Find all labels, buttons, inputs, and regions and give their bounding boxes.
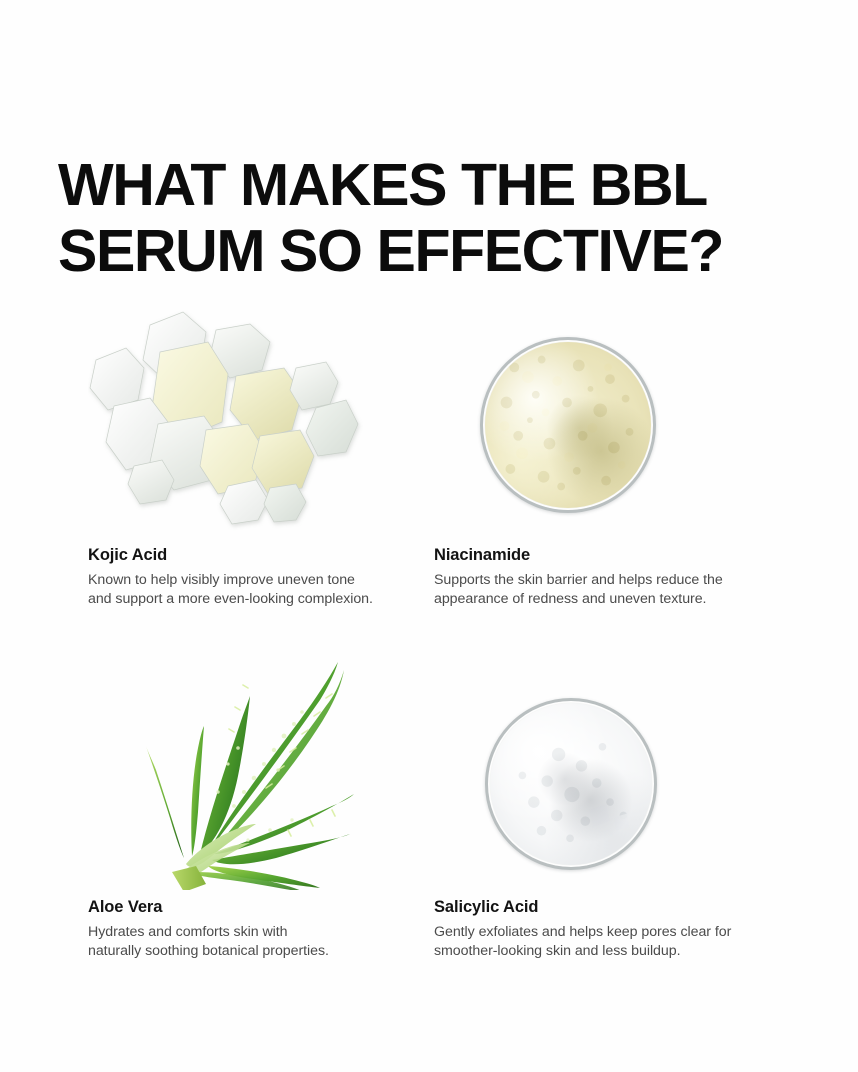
- ingredient-infographic-page: WHAT MAKES THE BBL SERUM SO EFFECTIVE?: [0, 0, 858, 1072]
- white-powder-fill: [490, 703, 652, 865]
- ingredient-description: Gently exfoliates and helps keep pores c…: [434, 923, 764, 960]
- ingredient-title: Aloe Vera: [88, 897, 428, 917]
- ingredient-card-kojic-acid: Kojic Acid Known to help visibly improve…: [88, 290, 488, 640]
- salicylic-acid-caption: Salicylic Acid Gently exfoliates and hel…: [434, 897, 774, 960]
- cream-powder-fill: [485, 342, 651, 508]
- ingredient-card-niacinamide: Niacinamide Supports the skin barrier an…: [434, 290, 834, 640]
- ingredient-description: Hydrates and comforts skin with naturall…: [88, 923, 418, 960]
- powder-texture: [490, 703, 652, 865]
- description-line-1: Gently exfoliates and helps keep pores c…: [434, 923, 764, 942]
- aloe-vera-leaves-icon: [88, 640, 418, 890]
- kojic-acid-media: [88, 290, 418, 540]
- description-line-2: appearance of redness and uneven texture…: [434, 590, 764, 609]
- niacinamide-caption: Niacinamide Supports the skin barrier an…: [434, 545, 774, 608]
- page-title: WHAT MAKES THE BBL SERUM SO EFFECTIVE?: [58, 152, 818, 284]
- niacinamide-media: [434, 290, 764, 540]
- page-title-line-1: WHAT MAKES THE BBL: [58, 152, 818, 218]
- aloe-vera-caption: Aloe Vera Hydrates and comforts skin wit…: [88, 897, 428, 960]
- aloe-vera-media: [88, 640, 418, 890]
- description-line-2: naturally soothing botanical properties.: [88, 942, 418, 961]
- description-line-1: Supports the skin barrier and helps redu…: [434, 571, 764, 590]
- ingredient-card-salicylic-acid: Salicylic Acid Gently exfoliates and hel…: [434, 640, 834, 990]
- ingredient-row-2: Aloe Vera Hydrates and comforts skin wit…: [0, 640, 858, 992]
- ingredient-title: Salicylic Acid: [434, 897, 774, 917]
- ingredient-description: Known to help visibly improve uneven ton…: [88, 571, 418, 608]
- description-line-1: Hydrates and comforts skin with: [88, 923, 418, 942]
- ingredient-grid: Kojic Acid Known to help visibly improve…: [0, 290, 858, 992]
- salicylic-acid-powder-dish-icon: [485, 698, 657, 870]
- ingredient-title: Niacinamide: [434, 545, 774, 565]
- ingredient-card-aloe-vera: Aloe Vera Hydrates and comforts skin wit…: [88, 640, 488, 990]
- description-line-2: and support a more even-looking complexi…: [88, 590, 418, 609]
- page-title-line-2: SERUM SO EFFECTIVE?: [58, 218, 818, 284]
- niacinamide-powder-dish-icon: [480, 337, 656, 513]
- ingredient-row-1: Kojic Acid Known to help visibly improve…: [0, 290, 858, 640]
- ingredient-title: Kojic Acid: [88, 545, 428, 565]
- salicylic-acid-media: [434, 640, 764, 890]
- kojic-acid-caption: Kojic Acid Known to help visibly improve…: [88, 545, 428, 608]
- powder-texture: [485, 342, 651, 508]
- description-line-2: smoother-looking skin and less buildup.: [434, 942, 764, 961]
- ingredient-description: Supports the skin barrier and helps redu…: [434, 571, 764, 608]
- kojic-acid-crystals-icon: [88, 290, 418, 540]
- description-line-1: Known to help visibly improve uneven ton…: [88, 571, 418, 590]
